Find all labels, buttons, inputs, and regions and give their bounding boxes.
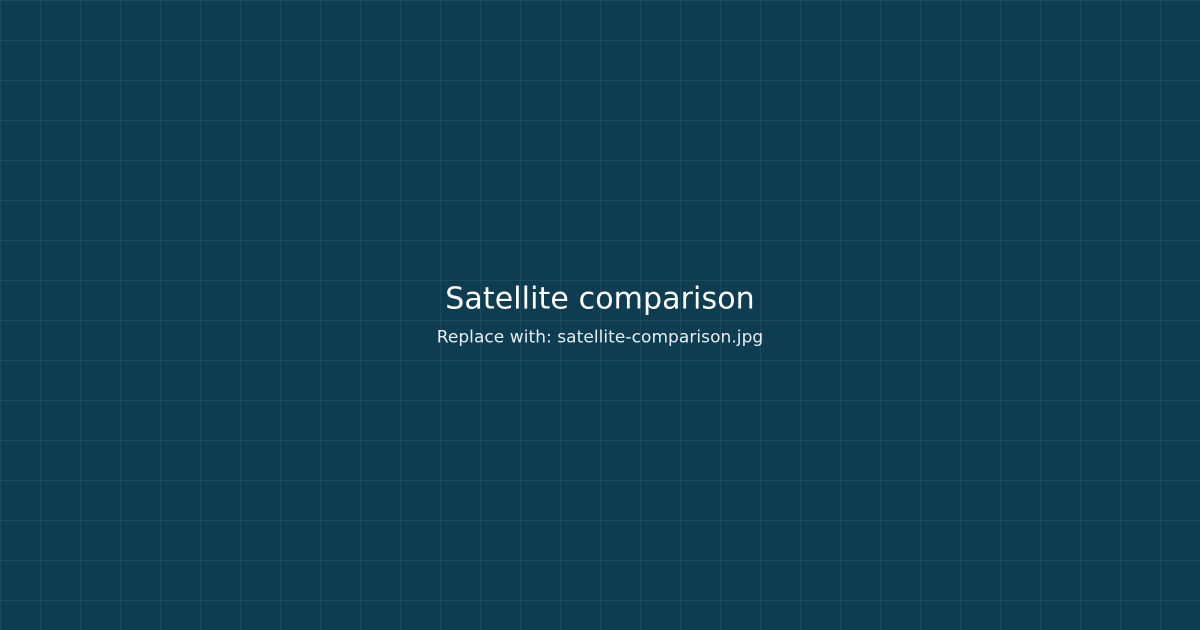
placeholder-replace-hint: Replace with: satellite-comparison.jpg xyxy=(437,327,764,347)
image-placeholder-canvas: Satellite comparison Replace with: satel… xyxy=(0,0,1200,630)
placeholder-title: Satellite comparison xyxy=(445,283,755,318)
placeholder-caption-block: Satellite comparison Replace with: satel… xyxy=(0,283,1200,348)
